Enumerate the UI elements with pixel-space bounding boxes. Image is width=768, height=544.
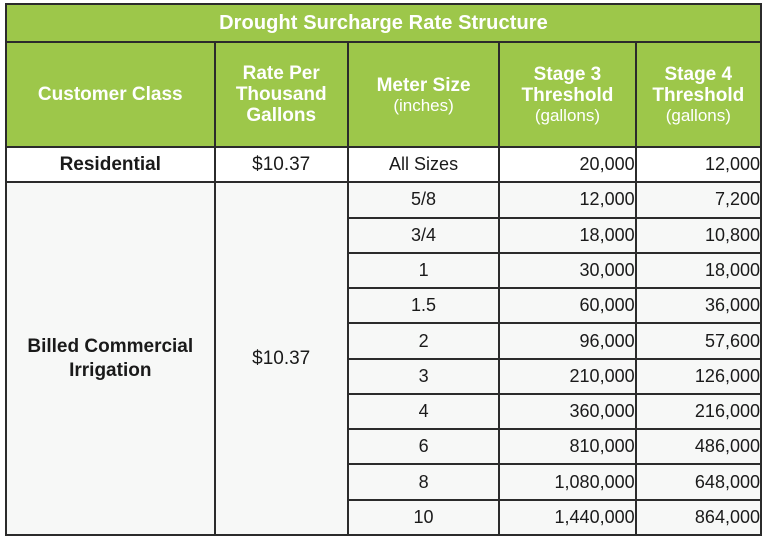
cell-stage4: 126,000 (636, 359, 761, 394)
cell-stage4: 648,000 (636, 464, 761, 499)
cell-stage3: 12,000 (499, 182, 635, 217)
header-label-customer-class: Customer Class (7, 84, 214, 105)
cell-meter-size: 10 (348, 500, 499, 535)
cell-meter-size: 5/8 (348, 182, 499, 217)
table-title: Drought Surcharge Rate Structure (6, 4, 761, 42)
cell-stage4: 486,000 (636, 429, 761, 464)
cell-meter-size: 2 (348, 323, 499, 358)
cell-stage3: 18,000 (499, 218, 635, 253)
cell-stage4: 57,600 (636, 323, 761, 358)
cell-residential-customer-class: Residential (6, 147, 215, 182)
cell-meter-size: 8 (348, 464, 499, 499)
table-row-residential: Residential $10.37 All Sizes 20,000 12,0… (6, 147, 761, 182)
header-label-stage4-line1: Stage 4 (637, 64, 760, 85)
cell-residential-stage3: 20,000 (499, 147, 635, 182)
cell-stage3: 1,080,000 (499, 464, 635, 499)
commercial-class-line1: Billed Commercial (27, 336, 193, 357)
cell-meter-size: 6 (348, 429, 499, 464)
cell-stage3: 1,440,000 (499, 500, 635, 535)
table-row: Billed Commercial Irrigation $10.37 5/8 … (6, 182, 761, 217)
cell-stage3: 96,000 (499, 323, 635, 358)
table-title-row: Drought Surcharge Rate Structure (6, 4, 761, 42)
cell-commercial-customer-class: Billed Commercial Irrigation (6, 182, 215, 535)
column-header-stage-4-threshold: Stage 4 Threshold (gallons) (636, 42, 761, 147)
header-label-meter-size: Meter Size (349, 75, 498, 96)
header-unit-stage4: (gallons) (637, 106, 760, 125)
cell-stage4: 18,000 (636, 253, 761, 288)
cell-stage4: 216,000 (636, 394, 761, 429)
header-label-rate-line3: Gallons (216, 105, 347, 126)
cell-stage3: 30,000 (499, 253, 635, 288)
cell-residential-stage4: 12,000 (636, 147, 761, 182)
header-label-stage4-line2: Threshold (637, 85, 760, 106)
drought-surcharge-rate-table: Drought Surcharge Rate Structure Custome… (5, 3, 762, 536)
cell-stage3: 60,000 (499, 288, 635, 323)
cell-residential-meter-size: All Sizes (348, 147, 499, 182)
cell-stage4: 36,000 (636, 288, 761, 323)
cell-meter-size: 1.5 (348, 288, 499, 323)
cell-stage4: 10,800 (636, 218, 761, 253)
cell-stage3: 210,000 (499, 359, 635, 394)
header-label-rate-line1: Rate Per (216, 63, 347, 84)
cell-meter-size: 4 (348, 394, 499, 429)
column-header-rate-per-thousand-gallons: Rate Per Thousand Gallons (215, 42, 348, 147)
cell-stage4: 7,200 (636, 182, 761, 217)
cell-commercial-rate: $10.37 (215, 182, 348, 535)
cell-stage4: 864,000 (636, 500, 761, 535)
column-header-meter-size: Meter Size (inches) (348, 42, 499, 147)
cell-meter-size: 3 (348, 359, 499, 394)
header-label-rate-line2: Thousand (216, 84, 347, 105)
commercial-class-line2: Irrigation (69, 360, 151, 381)
cell-meter-size: 3/4 (348, 218, 499, 253)
table-header-row: Customer Class Rate Per Thousand Gallons… (6, 42, 761, 147)
cell-stage3: 810,000 (499, 429, 635, 464)
column-header-customer-class: Customer Class (6, 42, 215, 147)
cell-stage3: 360,000 (499, 394, 635, 429)
header-unit-meter-size: (inches) (349, 96, 498, 115)
header-unit-stage3: (gallons) (500, 106, 634, 125)
column-header-stage-3-threshold: Stage 3 Threshold (gallons) (499, 42, 635, 147)
rate-table-container: Drought Surcharge Rate Structure Custome… (5, 3, 762, 536)
cell-residential-rate: $10.37 (215, 147, 348, 182)
header-label-stage3-line1: Stage 3 (500, 64, 634, 85)
cell-meter-size: 1 (348, 253, 499, 288)
header-label-stage3-line2: Threshold (500, 85, 634, 106)
